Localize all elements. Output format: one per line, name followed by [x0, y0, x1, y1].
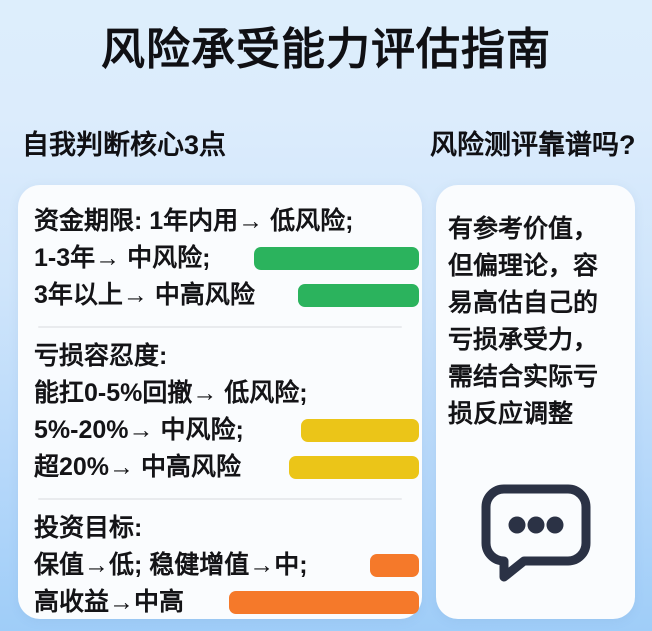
self-assessment-card: 资金期限: 1年内用→ 低风险;1-3年→ 中风险;3年以上→ 中高风险亏损容忍… [18, 185, 422, 619]
assessment-line: 1-3年→ 中风险; [34, 240, 406, 277]
assessment-block-loss-tolerance: 亏损容忍度:能扛0-5%回撤→ 低风险;5%-20%→ 中风险;超20%→ 中高… [34, 338, 406, 486]
chat-bubble-wrap [436, 481, 635, 585]
reliability-text-line: 亏损承受力， [448, 322, 623, 359]
assessment-line: 投资目标: [34, 510, 406, 547]
assessment-line-text: 能扛0-5%回撤→ 低风险; [34, 379, 308, 407]
assessment-line-text: 亏损容忍度: [34, 342, 167, 370]
section-divider [38, 498, 402, 500]
assessment-line-text: 资金期限: 1年内用→ 低风险; [34, 207, 353, 235]
assessment-line-text: 投资目标: [34, 514, 142, 542]
assessment-block-list: 资金期限: 1年内用→ 低风险;1-3年→ 中风险;3年以上→ 中高风险亏损容忍… [34, 203, 406, 621]
left-section-heading: 自我判断核心3点 [22, 128, 226, 162]
assessment-line: 超20%→ 中高风险 [34, 449, 406, 486]
assessment-line: 资金期限: 1年内用→ 低风险; [34, 203, 406, 240]
chat-bubble-dots-icon [478, 481, 594, 585]
assessment-line-text: 3年以上→ 中高风险 [34, 281, 255, 309]
risk-level-bar [254, 247, 419, 270]
page-title: 风险承受能力评估指南 [0, 22, 652, 78]
risk-level-bar [370, 554, 419, 577]
assessment-line: 3年以上→ 中高风险 [34, 277, 406, 314]
risk-level-bar [298, 284, 419, 307]
right-section-heading: 风险测评靠谱吗? [430, 128, 636, 162]
risk-assessment-poster: 风险承受能力评估指南 自我判断核心3点 风险测评靠谱吗? 资金期限: 1年内用→… [0, 0, 652, 631]
assessment-line-text: 5%-20%→ 中风险; [34, 416, 244, 444]
assessment-line-text: 超20%→ 中高风险 [34, 453, 241, 481]
assessment-line-text: 保值→低; 稳健增值→中; [34, 551, 308, 579]
assessment-line: 亏损容忍度: [34, 338, 406, 375]
assessment-line-text: 1-3年→ 中风险; [34, 244, 210, 272]
assessment-line: 5%-20%→ 中风险; [34, 412, 406, 449]
risk-level-bar [289, 456, 419, 479]
assessment-line: 高收益→中高 [34, 584, 406, 621]
reliability-text: 有参考价值，但偏理论，容易高估自己的亏损承受力，需结合实际亏损反应调整 [448, 211, 623, 433]
reliability-text-line: 损反应调整 [448, 396, 623, 433]
risk-level-bar [301, 419, 419, 442]
risk-level-bar [229, 591, 419, 614]
reliability-card: 有参考价值，但偏理论，容易高估自己的亏损承受力，需结合实际亏损反应调整 [436, 185, 635, 619]
assessment-line: 能扛0-5%回撤→ 低风险; [34, 375, 406, 412]
section-divider [38, 326, 402, 328]
assessment-line: 保值→低; 稳健增值→中; [34, 547, 406, 584]
assessment-line-text: 高收益→中高 [34, 588, 184, 616]
reliability-text-line: 易高估自己的 [448, 285, 623, 322]
assessment-block-funding-horizon: 资金期限: 1年内用→ 低风险;1-3年→ 中风险;3年以上→ 中高风险 [34, 203, 406, 314]
reliability-text-line: 需结合实际亏 [448, 359, 623, 396]
assessment-block-investment-goal: 投资目标:保值→低; 稳健增值→中;高收益→中高 [34, 510, 406, 621]
reliability-text-line: 但偏理论，容 [448, 248, 623, 285]
reliability-text-line: 有参考价值， [448, 211, 623, 248]
